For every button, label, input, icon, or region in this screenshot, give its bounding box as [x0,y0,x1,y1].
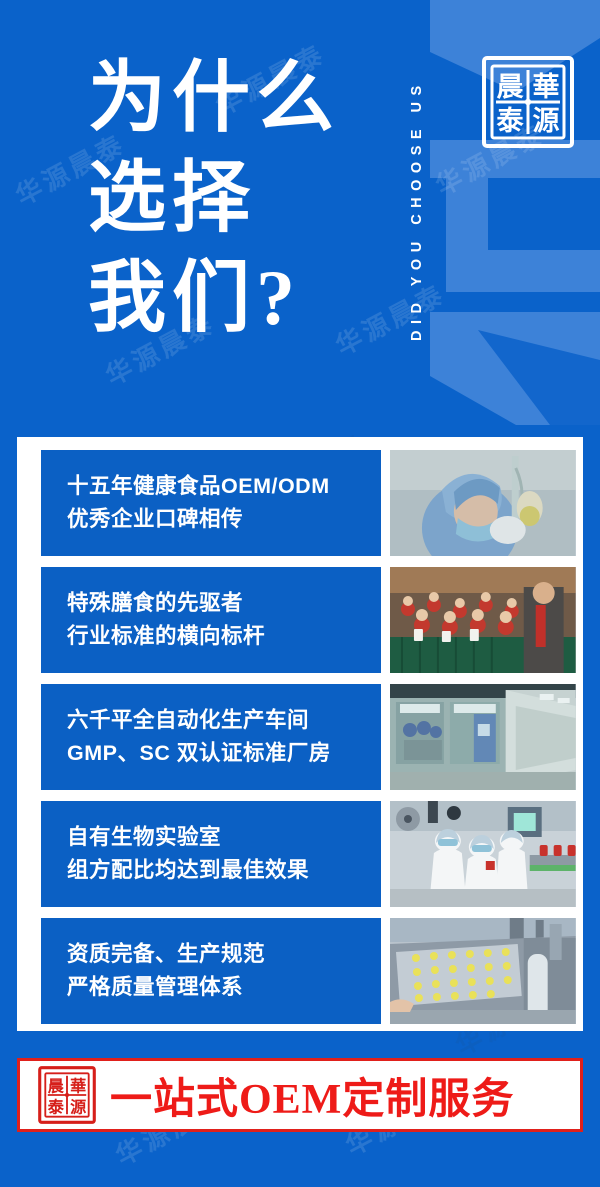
feature-thumbnail-cleanroom-corridor [390,684,576,790]
seal-char-tr: 華 [533,72,560,102]
feature-list: 十五年健康食品OEM/ODM 优秀企业口碑相传 [41,450,576,1024]
seal-char-br: 源 [70,1097,86,1116]
brand-seal-banner: 晨 華 泰 源 [30,1064,104,1126]
feature-card[interactable]: 资质完备、生产规范 严格质量管理体系 [41,918,381,1024]
list-item[interactable]: 自有生物实验室 组方配比均达到最佳效果 [41,801,576,907]
feature-card[interactable]: 特殊膳食的先驱者 行业标准的横向标杆 [41,567,381,673]
feature-line-2: 组方配比均达到最佳效果 [67,854,381,887]
feature-line-2: 优秀企业口碑相传 [67,503,381,536]
feature-line-2: 行业标准的横向标杆 [67,620,381,653]
page-title: 为什么 选择 我们? [88,48,388,347]
feature-line-1: 自有生物实验室 [67,821,381,854]
poster-root: 华源晨泰 华源晨泰 华源晨泰 华源晨泰 华源晨泰 华源晨泰 华源晨泰 华源晨泰 … [0,0,600,1187]
feature-card[interactable]: 六千平全自动化生产车间 GMP、SC 双认证标准厂房 [41,684,381,790]
seal-char-bl: 泰 [47,1097,65,1116]
seal-char-br: 源 [533,106,560,136]
feature-line-1: 特殊膳食的先驱者 [67,587,381,620]
vertical-tagline: DID YOU CHOOSE US [399,26,425,394]
brand-seal-header: 晨 華 泰 源 [478,52,578,152]
list-item[interactable]: 六千平全自动化生产车间 GMP、SC 双认证标准厂房 [41,684,576,790]
title-line-1: 为什么 [88,48,388,148]
feature-thumbnail-blister-packing [390,918,576,1024]
list-item[interactable]: 资质完备、生产规范 严格质量管理体系 [41,918,576,1024]
seal-char-tl: 晨 [497,72,525,102]
feature-thumbnail-conference [390,567,576,673]
title-line-3: 我们? [88,248,388,348]
feature-line-2: 严格质量管理体系 [67,971,381,1004]
seal-char-bl: 泰 [497,106,525,136]
feature-line-1: 资质完备、生产规范 [67,938,381,971]
seal-char-tl: 晨 [48,1077,65,1095]
feature-card[interactable]: 自有生物实验室 组方配比均达到最佳效果 [41,801,381,907]
feature-card[interactable]: 十五年健康食品OEM/ODM 优秀企业口碑相传 [41,450,381,556]
list-item[interactable]: 特殊膳食的先驱者 行业标准的横向标杆 [41,567,576,673]
feature-thumbnail-production-line [390,801,576,907]
bottom-cta-banner[interactable]: 晨 華 泰 源 一站式OEM定制服务 [17,1058,583,1132]
feature-line-1: 六千平全自动化生产车间 [67,704,381,737]
cta-text: 一站式OEM定制服务 [110,1065,514,1126]
title-line-2: 选择 [88,148,388,248]
feature-line-2: GMP、SC 双认证标准厂房 [67,737,381,770]
feature-line-1: 十五年健康食品OEM/ODM [67,470,381,503]
features-panel: 十五年健康食品OEM/ODM 优秀企业口碑相传 [17,437,583,1031]
feature-thumbnail-lab-technician [390,450,576,556]
seal-char-tr: 華 [70,1076,86,1095]
list-item[interactable]: 十五年健康食品OEM/ODM 优秀企业口碑相传 [41,450,576,556]
